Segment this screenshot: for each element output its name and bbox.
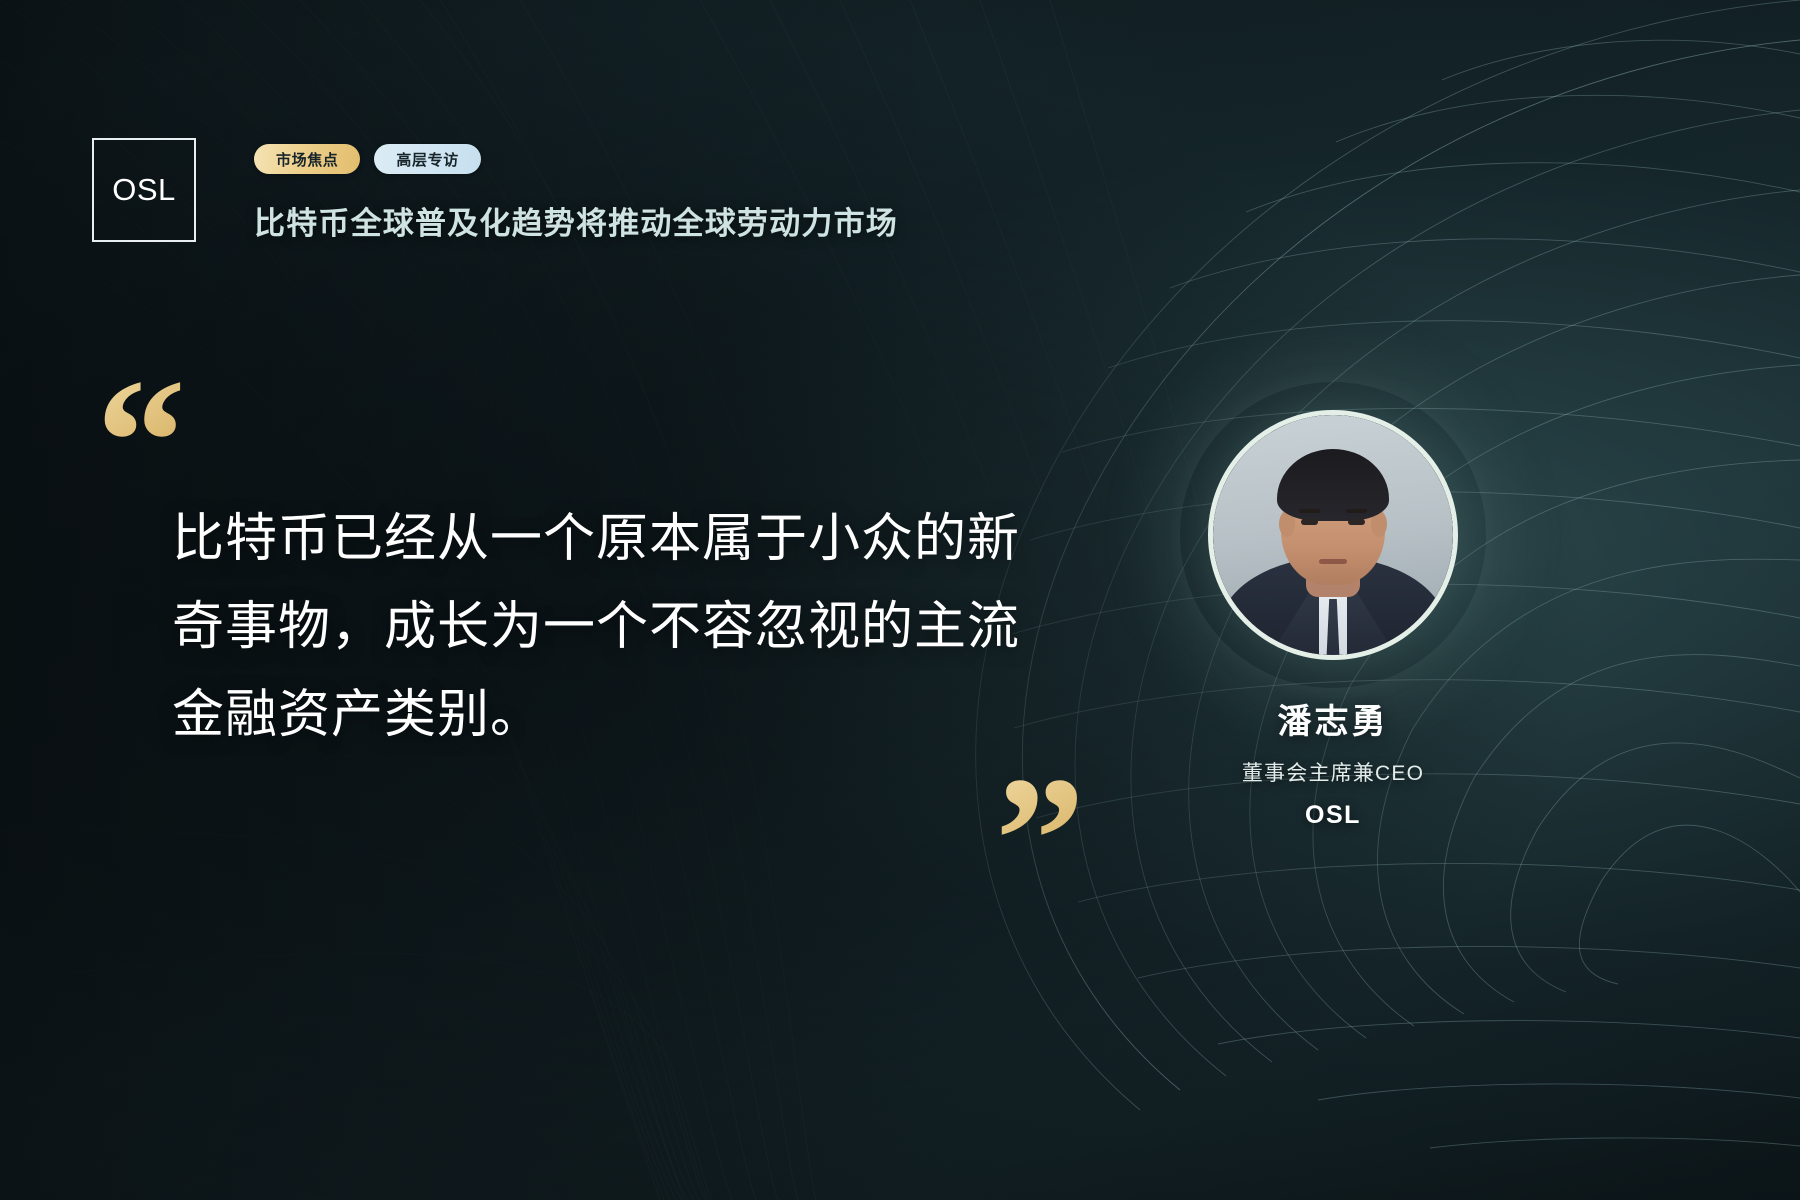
quote-text-block: 比特币已经从一个原本属于小众的新 奇事物，成长为一个不容忽视的主流 金融资产类别…	[172, 495, 1072, 759]
speaker-title: 董事会主席兼CEO	[1208, 757, 1458, 787]
speaker-attribution: 潘志勇 董事会主席兼CEO OSL	[1208, 410, 1458, 830]
badge-row: 市场焦点 高层专访	[254, 144, 898, 174]
quote-line-2: 奇事物，成长为一个不容忽视的主流	[172, 583, 1072, 671]
badge-executive-interview[interactable]: 高层专访	[374, 144, 480, 174]
quote-line-3: 金融资产类别。	[172, 671, 1072, 759]
osl-logo-text: OSL	[112, 172, 176, 208]
speaker-portrait-icon	[1213, 415, 1453, 655]
headline-title: 比特币全球普及化趋势将推动全球劳动力市场	[254, 198, 898, 243]
badge-market-focus[interactable]: 市场焦点	[254, 144, 360, 174]
speaker-organization: OSL	[1208, 801, 1458, 830]
slide-header: OSL 市场焦点 高层专访 比特币全球普及化趋势将推动全球劳动力市场	[92, 138, 898, 243]
avatar	[1208, 410, 1458, 660]
quote-close-mark: ”	[995, 750, 1085, 930]
quote-line-1: 比特币已经从一个原本属于小众的新	[172, 495, 1072, 583]
speaker-name: 潘志勇	[1208, 694, 1458, 743]
osl-logo: OSL	[92, 138, 196, 242]
header-text-group: 市场焦点 高层专访 比特币全球普及化趋势将推动全球劳动力市场	[254, 138, 898, 243]
slide-canvas: OSL 市场焦点 高层专访 比特币全球普及化趋势将推动全球劳动力市场 “ 比特币…	[0, 0, 1800, 1200]
